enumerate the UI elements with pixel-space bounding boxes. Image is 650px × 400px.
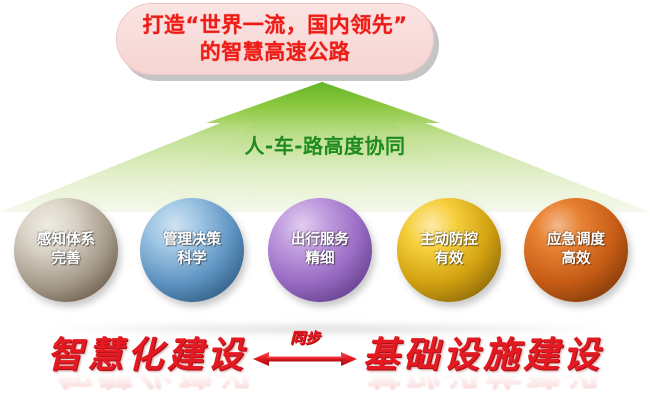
pillar-label-line1: 应急调度 <box>547 231 605 250</box>
bottom-left-text: 智慧化建设 <box>47 326 247 378</box>
pillar-label-line2: 高效 <box>562 250 591 269</box>
pillar-label-line2: 精细 <box>306 250 335 269</box>
pillar-circle-travel-service[interactable]: 出行服务 精细 <box>268 198 372 302</box>
pillar-label-line1: 感知体系 <box>37 231 95 250</box>
arrow-label: 人-车-路高度协同 <box>0 130 650 159</box>
pillar-circle-perception[interactable]: 感知体系 完善 <box>14 198 118 302</box>
pillar-label-line1: 主动防控 <box>420 231 478 250</box>
slide-canvas: 打造“世界一流，国内领先” 的智慧高速公路 人-车-路高度协同 感知体系 完善 … <box>0 0 650 400</box>
vision-banner-line-1: 打造“世界一流，国内领先” <box>142 12 407 39</box>
pillar-label-line2: 科学 <box>178 250 207 269</box>
bottom-banner-row: 智慧化建设 同步 基础设施建设 <box>0 328 650 376</box>
bottom-banner: 智慧化建设 同步 基础设施建设 <box>0 318 650 400</box>
vision-banner: 打造“世界一流，国内领先” 的智慧高速公路 <box>116 3 434 75</box>
pillar-circle-management[interactable]: 管理决策 科学 <box>140 198 244 302</box>
pillar-label-line2: 有效 <box>435 250 464 269</box>
pillar-circle-emergency-dispatch[interactable]: 应急调度 高效 <box>524 198 628 302</box>
vision-banner-line-2: 的智慧高速公路 <box>200 39 351 66</box>
double-headed-arrow-icon <box>253 349 357 369</box>
pillar-label-line1: 出行服务 <box>291 231 349 250</box>
sync-group: 同步 <box>251 329 359 375</box>
pillar-label-line2: 完善 <box>52 250 81 269</box>
pillar-label-line1: 管理决策 <box>163 231 221 250</box>
pillar-circle-active-prevention[interactable]: 主动防控 有效 <box>397 198 501 302</box>
bottom-right-text: 基础设施建设 <box>363 326 603 378</box>
sync-label: 同步 <box>251 327 359 348</box>
